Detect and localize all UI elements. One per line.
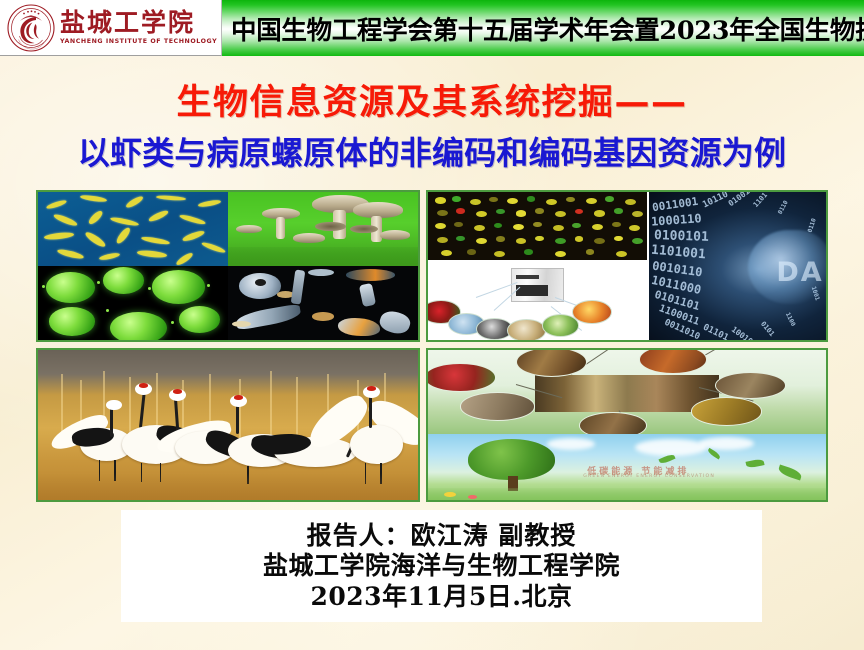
presentation-title-main: 生物信息资源及其系统挖掘—— — [0, 74, 864, 125]
dna-overlay-text: DA — [776, 257, 823, 288]
crop-germplasm-diagram-image — [428, 350, 826, 434]
dna-microarray-image — [428, 192, 647, 260]
mushroom-photo-image — [228, 192, 418, 266]
gallery-cell-bottom-left — [36, 348, 420, 502]
eco-green-banner-image: 低碳能源 节能减排 GREEN ENERGY ENERGY CONSERVATI… — [428, 434, 826, 500]
gallery-cell-top-left — [36, 190, 420, 342]
conference-banner-text: 中国生物工程学会第十五届学术年会置2023年全国生物技术大会 — [222, 10, 864, 47]
plankton-specimens-image — [228, 266, 418, 340]
logo-name-cn: 盐城工学院 — [60, 10, 217, 37]
virus-particles-image — [38, 266, 228, 340]
conference-banner: 中国生物工程学会第十五届学术年会置2023年全国生物技术大会 — [222, 0, 864, 56]
bacteria-micrograph-image — [38, 192, 228, 266]
university-logo: 盐城工学院 YANCHENG INSTITUTE OF TECHNOLOGY — [0, 0, 222, 56]
university-seal-icon — [6, 3, 56, 53]
presentation-date-line: 2023年11月5日.北京 — [311, 582, 573, 612]
image-gallery: 0011001 1000110 0100101 1101001 0010110 … — [36, 190, 828, 502]
slide-header: 盐城工学院 YANCHENG INSTITUTE OF TECHNOLOGY 中… — [0, 0, 864, 56]
presenter-affiliation-line: 盐城工学院海洋与生物工程学院 — [263, 551, 620, 581]
gallery-cell-bottom-right: 低碳能源 节能减排 GREEN ENERGY ENERGY CONSERVATI… — [426, 348, 828, 502]
logo-wordmark: 盐城工学院 YANCHENG INSTITUTE OF TECHNOLOGY — [60, 10, 217, 46]
eco-overlay-text-en: GREEN ENERGY ENERGY CONSERVATION — [583, 474, 715, 479]
logo-name-en: YANCHENG INSTITUTE OF TECHNOLOGY — [60, 38, 217, 45]
red-crowned-cranes-image — [38, 350, 418, 500]
presenter-name-line: 报告人：欧江涛 副教授 — [307, 521, 577, 551]
presenter-info-box: 报告人：欧江涛 副教授 盐城工学院海洋与生物工程学院 2023年11月5日.北京 — [121, 510, 762, 622]
biobank-diagram-image — [428, 260, 647, 340]
dna-binary-tunnel-image: 0011001 1000110 0100101 1101001 0010110 … — [649, 192, 826, 340]
gallery-cell-top-right: 0011001 1000110 0100101 1101001 0010110 … — [426, 190, 828, 342]
presentation-title-sub: 以虾类与病原螺原体的非编码和编码基因资源为例 — [0, 128, 864, 174]
